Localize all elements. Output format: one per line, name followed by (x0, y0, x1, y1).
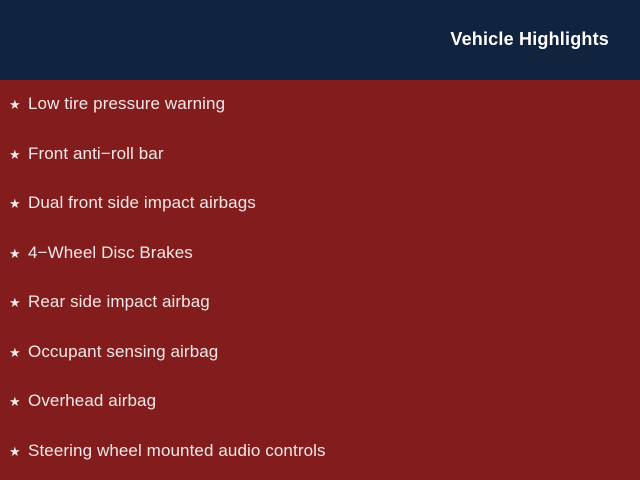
list-item: ★ Overhead airbag (0, 392, 640, 442)
list-item-label: Dual front side impact airbags (28, 194, 256, 211)
list-item: ★ 4−Wheel Disc Brakes (0, 244, 640, 294)
star-bullet-icon: ★ (9, 346, 28, 359)
star-bullet-icon: ★ (9, 98, 28, 111)
list-item: ★ Dual front side impact airbags (0, 194, 640, 244)
header-band: Vehicle Highlights (0, 0, 640, 80)
star-bullet-icon: ★ (9, 445, 28, 458)
list-item: ★ Occupant sensing airbag (0, 343, 640, 393)
vehicle-highlights-list: ★ Low tire pressure warning ★ Front anti… (0, 80, 640, 480)
star-bullet-icon: ★ (9, 148, 28, 161)
list-item-label: Low tire pressure warning (28, 95, 225, 112)
star-bullet-icon: ★ (9, 395, 28, 408)
list-item-label: Occupant sensing airbag (28, 343, 218, 360)
page-title: Vehicle Highlights (450, 30, 609, 50)
vehicle-highlights-slide: Vehicle Highlights ★ Low tire pressure w… (0, 0, 640, 480)
list-item-label: 4−Wheel Disc Brakes (28, 244, 193, 261)
star-bullet-icon: ★ (9, 197, 28, 210)
list-item-label: Steering wheel mounted audio controls (28, 442, 326, 459)
list-item: ★ Steering wheel mounted audio controls (0, 442, 640, 480)
star-bullet-icon: ★ (9, 247, 28, 260)
list-item-label: Rear side impact airbag (28, 293, 210, 310)
list-item-label: Front anti−roll bar (28, 145, 164, 162)
list-item: ★ Front anti−roll bar (0, 145, 640, 195)
list-item: ★ Low tire pressure warning (0, 95, 640, 145)
list-item-label: Overhead airbag (28, 392, 156, 409)
list-item: ★ Rear side impact airbag (0, 293, 640, 343)
star-bullet-icon: ★ (9, 296, 28, 309)
